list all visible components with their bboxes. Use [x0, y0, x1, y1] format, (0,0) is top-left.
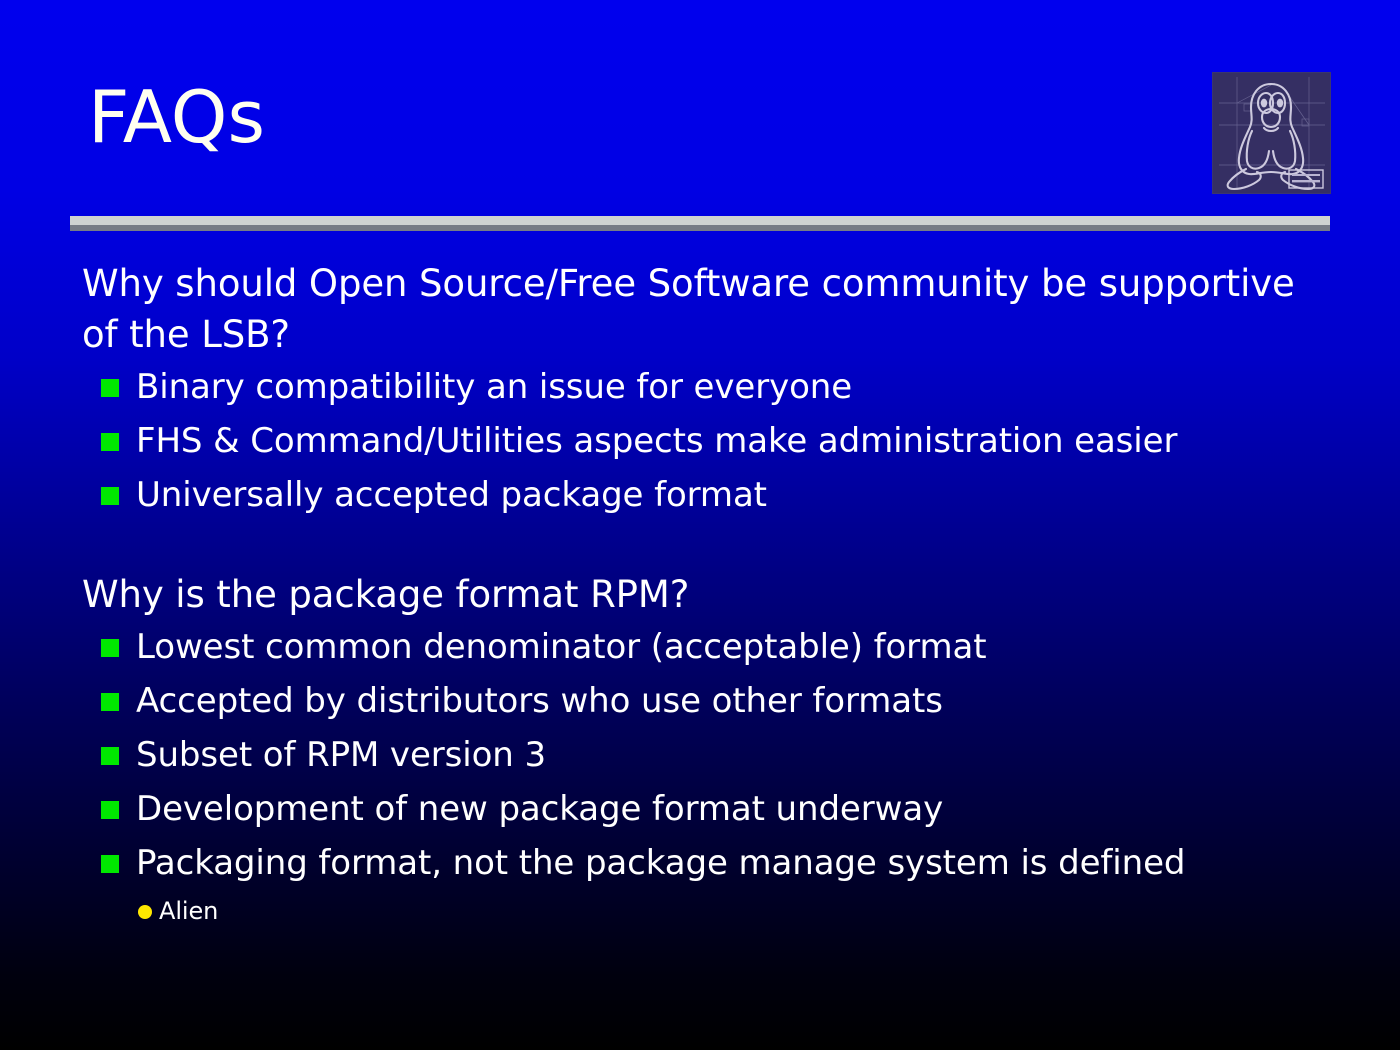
slide-body: Why should Open Source/Free Software com…	[0, 258, 1400, 932]
sub-list-item-label: Alien	[159, 897, 218, 925]
square-bullet-icon	[101, 747, 119, 765]
square-bullet-icon	[101, 855, 119, 873]
title-divider-shadow	[70, 225, 1330, 231]
list-item-label: Packaging format, not the package manage…	[136, 843, 1185, 883]
faq-answer-list: Lowest common denominator (acceptable) f…	[0, 620, 1400, 932]
list-item-label: FHS & Command/Utilities aspects make adm…	[136, 421, 1177, 461]
faq-section: Why should Open Source/Free Software com…	[0, 258, 1400, 522]
linux-tux-penguin-logo	[1213, 73, 1330, 193]
slide-title: FAQs	[88, 74, 265, 160]
list-item: Lowest common denominator (acceptable) f…	[0, 620, 1400, 674]
list-item: Universally accepted package format	[0, 468, 1400, 522]
square-bullet-icon	[101, 433, 119, 451]
list-item: Accepted by distributors who use other f…	[0, 674, 1400, 728]
list-item-label: Development of new package format underw…	[136, 789, 943, 829]
section-spacer	[0, 522, 1400, 569]
square-bullet-icon	[101, 487, 119, 505]
list-item-label: Subset of RPM version 3	[136, 735, 546, 775]
faq-question: Why should Open Source/Free Software com…	[0, 258, 1400, 360]
list-item: FHS & Command/Utilities aspects make adm…	[0, 414, 1400, 468]
title-divider	[70, 216, 1330, 225]
square-bullet-icon	[101, 379, 119, 397]
list-item: Development of new package format underw…	[0, 782, 1400, 836]
list-item-label: Accepted by distributors who use other f…	[136, 681, 943, 721]
list-item: Binary compatibility an issue for everyo…	[0, 360, 1400, 414]
presentation-slide: FAQs	[0, 0, 1400, 1050]
square-bullet-icon	[101, 639, 119, 657]
faq-section: Why is the package format RPM? Lowest co…	[0, 569, 1400, 932]
faq-question: Why is the package format RPM?	[0, 569, 1400, 620]
round-bullet-icon	[138, 905, 152, 919]
list-item-label: Universally accepted package format	[136, 475, 767, 515]
square-bullet-icon	[101, 801, 119, 819]
list-item-label: Binary compatibility an issue for everyo…	[136, 367, 852, 407]
list-item: Packaging format, not the package manage…	[0, 836, 1400, 890]
list-item: Subset of RPM version 3	[0, 728, 1400, 782]
sub-list-item: Alien	[0, 890, 1400, 932]
faq-answer-list: Binary compatibility an issue for everyo…	[0, 360, 1400, 522]
list-item-label: Lowest common denominator (acceptable) f…	[136, 627, 986, 667]
square-bullet-icon	[101, 693, 119, 711]
